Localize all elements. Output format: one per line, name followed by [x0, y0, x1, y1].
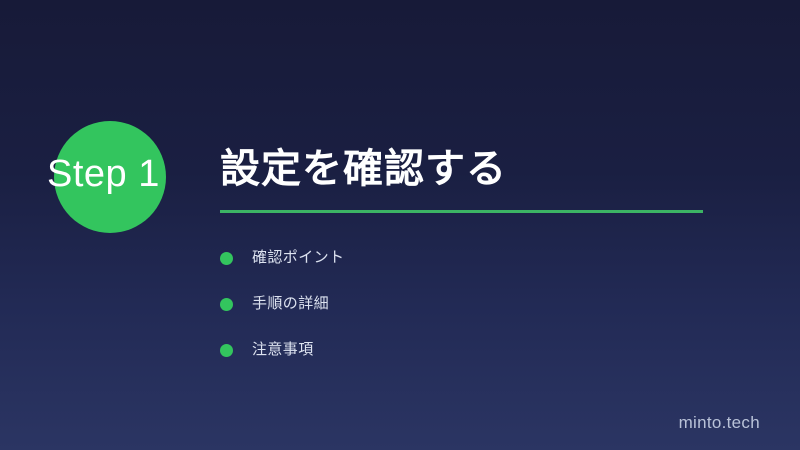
list-item: 確認ポイント — [220, 235, 760, 281]
slide-canvas: Step 1 設定を確認する 確認ポイント 手順の詳細 注意事項 minto.t… — [0, 0, 800, 450]
bullet-dot-icon — [220, 298, 233, 311]
bullet-item-label: 注意事項 — [252, 340, 314, 360]
list-item: 手順の詳細 — [220, 281, 760, 327]
list-item: 注意事項 — [220, 327, 760, 373]
bullet-item-label: 手順の詳細 — [252, 294, 329, 314]
slide-title: 設定を確認する — [220, 144, 760, 194]
slide-content: 設定を確認する 確認ポイント 手順の詳細 注意事項 — [220, 144, 760, 373]
bullet-item-label: 確認ポイント — [252, 248, 344, 268]
bullet-dot-icon — [220, 344, 233, 357]
step-number-label: Step 1 — [47, 152, 207, 196]
step-badge: Step 1 — [0, 0, 210, 260]
footer-brand-label: minto.tech — [679, 413, 760, 433]
title-divider — [220, 210, 703, 213]
bullet-list: 確認ポイント 手順の詳細 注意事項 — [220, 235, 760, 373]
bullet-dot-icon — [220, 252, 233, 265]
